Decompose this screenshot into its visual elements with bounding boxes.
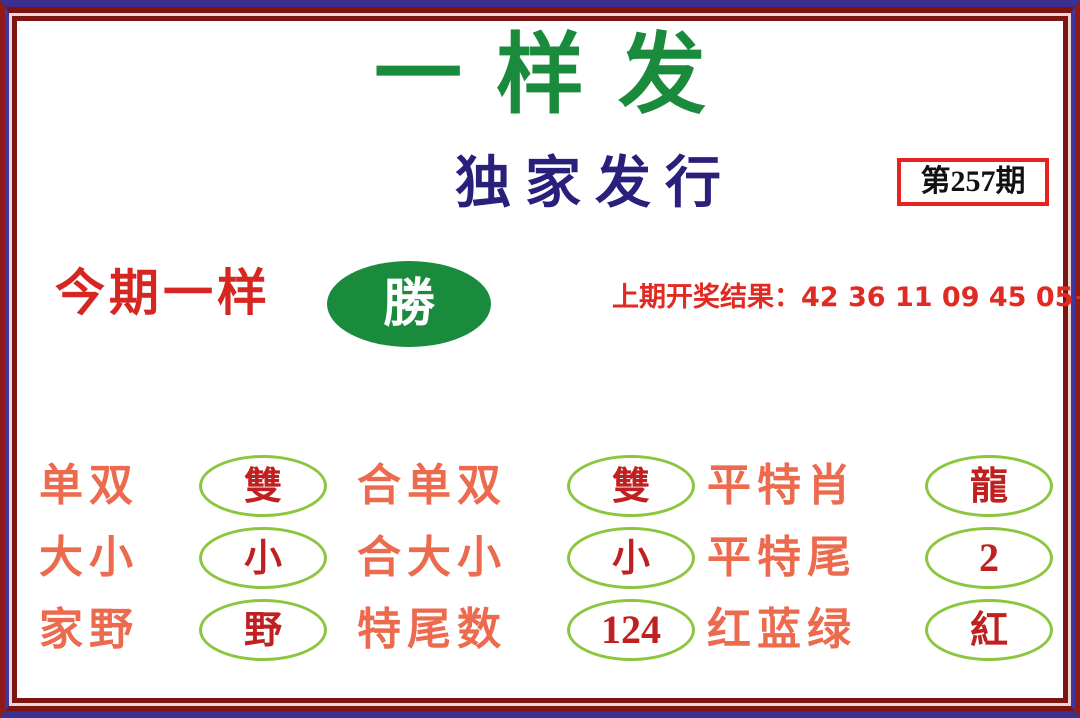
prediction-value-ellipse: 紅 (925, 599, 1053, 661)
prediction-row: 平特肖 龍 (707, 453, 1037, 519)
prediction-value-ellipse: 雙 (567, 455, 695, 517)
prediction-value-ellipse: 野 (199, 599, 327, 661)
prediction-row: 合单双 雙 (357, 453, 687, 519)
lottery-poster: 一样发 独家发行 第257期 今期一样 勝 上期开奖结果：42 36 11 09… (0, 0, 1080, 718)
prediction-label: 特尾数 (357, 597, 507, 663)
issue-number-badge: 第257期 (897, 158, 1049, 206)
prediction-value-ellipse: 龍 (925, 455, 1053, 517)
prediction-label: 红蓝绿 (707, 597, 857, 663)
prediction-value-ellipse: 小 (199, 527, 327, 589)
page-title: 一样发 (17, 31, 1063, 119)
prediction-row: 平特尾 2 (707, 525, 1037, 591)
prediction-value-ellipse: 雙 (199, 455, 327, 517)
prediction-value-ellipse: 小 (567, 527, 695, 589)
subtitle-row: 独家发行 第257期 (17, 151, 1063, 221)
prediction-label: 家野 (39, 597, 139, 663)
prediction-row: 合大小 小 (357, 525, 687, 591)
prediction-label: 大小 (39, 525, 139, 591)
prediction-value: 小 (202, 530, 324, 586)
prediction-value: 雙 (202, 458, 324, 514)
prediction-label: 平特肖 (707, 453, 857, 519)
prediction-column-3: 平特肖 龍 平特尾 2 红蓝绿 紅 (707, 453, 1037, 673)
prediction-row: 大小 小 (39, 525, 369, 591)
prediction-value: 雙 (570, 458, 692, 514)
predictions-grid: 单双 雙 大小 小 家野 野 (17, 453, 1063, 673)
subtitle: 独家发行 (455, 151, 735, 217)
prediction-label: 单双 (39, 453, 139, 519)
prediction-value-ellipse: 2 (925, 527, 1053, 589)
prediction-column-1: 单双 雙 大小 小 家野 野 (39, 453, 369, 673)
prediction-label: 平特尾 (707, 525, 857, 591)
prediction-row: 家野 野 (39, 597, 369, 663)
prediction-value: 124 (570, 602, 692, 658)
prediction-row: 红蓝绿 紅 (707, 597, 1037, 663)
prediction-label: 合大小 (357, 525, 507, 591)
prediction-value: 小 (570, 530, 692, 586)
prediction-row: 特尾数 124 (357, 597, 687, 663)
prediction-value: 野 (202, 602, 324, 658)
prediction-value-ellipse: 124 (567, 599, 695, 661)
win-badge: 勝 (327, 261, 491, 347)
prediction-value: 紅 (928, 602, 1050, 658)
prediction-row: 单双 雙 (39, 453, 369, 519)
prediction-value: 龍 (928, 458, 1050, 514)
poster-canvas: 一样发 独家发行 第257期 今期一样 勝 上期开奖结果：42 36 11 09… (17, 21, 1063, 698)
tagline: 今期一样 (55, 263, 271, 323)
prediction-column-2: 合单双 雙 合大小 小 特尾数 124 (357, 453, 687, 673)
prediction-label: 合单双 (357, 453, 507, 519)
prediction-value: 2 (928, 530, 1050, 586)
last-draw-result: 上期开奖结果：42 36 11 09 45 05+48 (612, 279, 1080, 317)
